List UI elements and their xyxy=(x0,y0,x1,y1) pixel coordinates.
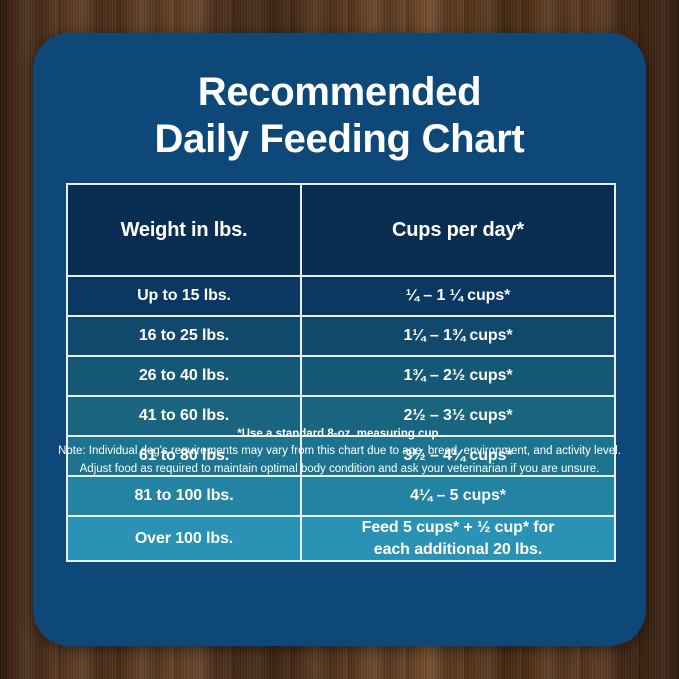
column-header-weight: Weight in lbs. xyxy=(67,184,301,276)
title-line-2: Daily Feeding Chart xyxy=(33,116,646,163)
table-row: Over 100 lbs. Feed 5 cups* + ½ cup* for … xyxy=(67,516,615,561)
page-title: Recommended Daily Feeding Chart xyxy=(33,69,646,163)
cell-weight: Over 100 lbs. xyxy=(67,516,301,561)
cell-cups: 4¼ – 5 cups* xyxy=(301,476,615,516)
cell-cups: 1¼ – 1¾ cups* xyxy=(301,316,615,356)
footnote-line-3: Adjust food as required to maintain opti… xyxy=(43,461,636,478)
footnote-block: *Use a standard 8-oz. measuring cup. Not… xyxy=(43,426,636,478)
table-row: Up to 15 lbs. ¼ – 1 ¼ cups* xyxy=(67,276,615,316)
cell-weight: 16 to 25 lbs. xyxy=(67,316,301,356)
feeding-table: Weight in lbs. Cups per day* Up to 15 lb… xyxy=(66,183,616,562)
cell-cups: 1¾ – 2½ cups* xyxy=(301,356,615,396)
table-row: 26 to 40 lbs. 1¾ – 2½ cups* xyxy=(67,356,615,396)
cell-cups: Feed 5 cups* + ½ cup* for each additiona… xyxy=(301,516,615,561)
cell-weight: Up to 15 lbs. xyxy=(67,276,301,316)
cell-weight: 26 to 40 lbs. xyxy=(67,356,301,396)
footnote-line-2: Note: Individual dog's requirements may … xyxy=(43,443,636,460)
table-row: 16 to 25 lbs. 1¼ – 1¾ cups* xyxy=(67,316,615,356)
column-header-cups: Cups per day* xyxy=(301,184,615,276)
footnote-line-1: *Use a standard 8-oz. measuring cup. xyxy=(43,426,636,443)
cell-weight: 81 to 100 lbs. xyxy=(67,476,301,516)
cell-cups-line-1: Feed 5 cups* + ½ cup* for xyxy=(302,517,614,539)
title-line-1: Recommended xyxy=(33,69,646,116)
table-header-row: Weight in lbs. Cups per day* xyxy=(67,184,615,276)
cell-cups-line-2: each additional 20 lbs. xyxy=(302,539,614,561)
cell-cups: ¼ – 1 ¼ cups* xyxy=(301,276,615,316)
feeding-chart-card: Recommended Daily Feeding Chart Weight i… xyxy=(33,33,646,646)
table-row: 81 to 100 lbs. 4¼ – 5 cups* xyxy=(67,476,615,516)
